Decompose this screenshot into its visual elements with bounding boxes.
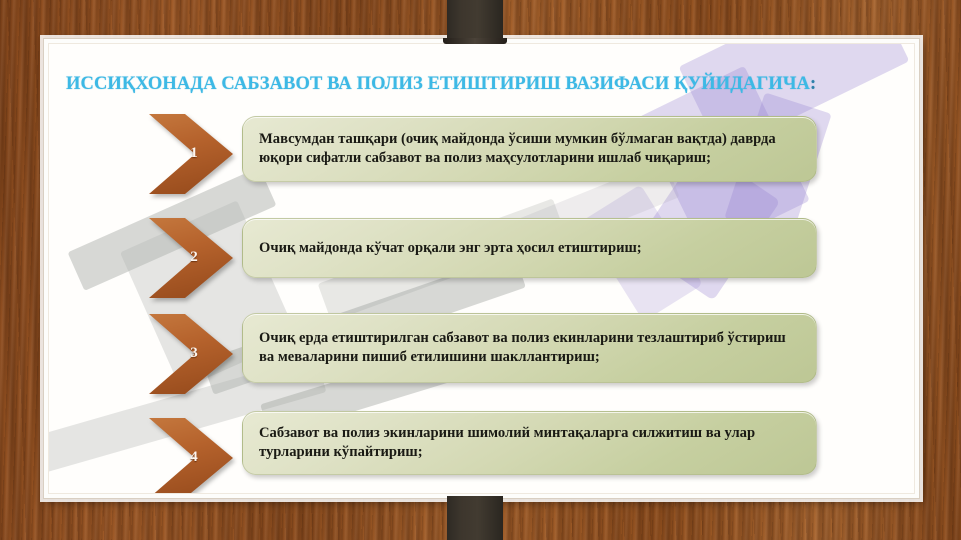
slide-frame-inner: ИССИҚХОНАДА САБЗАВОТ ВА ПОЛИЗ ЕТИШТИРИШ … [48,43,915,494]
content-box-2[interactable]: Очиқ майдонда кўчат орқали энг эрта ҳоси… [242,218,817,278]
decorative-post-bottom [447,496,503,540]
content-text-2: Очиқ майдонда кўчат орқали энг эрта ҳоси… [243,239,816,258]
decorative-post-top [447,0,503,44]
page-title-colon: : [810,74,816,94]
chevron-marker-4[interactable]: 4 [145,416,237,494]
content-box-4[interactable]: Сабзавот ва полиз экинларини шимолий мин… [242,411,817,475]
content-box-3[interactable]: Очиқ ерда етиштирилган сабзавот ва полиз… [242,313,817,383]
slide-frame: ИССИҚХОНАДА САБЗАВОТ ВА ПОЛИЗ ЕТИШТИРИШ … [43,38,920,499]
chevron-marker-2[interactable]: 2 [145,216,237,300]
content-text-1: Мавсумдан ташқари (очиқ майдонда ўсиши м… [243,130,816,168]
content-box-1[interactable]: Мавсумдан ташқари (очиқ майдонда ўсиши м… [242,116,817,182]
page-title: ИССИҚХОНАДА САБЗАВОТ ВА ПОЛИЗ ЕТИШТИРИШ … [66,74,906,95]
slide-canvas: ИССИҚХОНАДА САБЗАВОТ ВА ПОЛИЗ ЕТИШТИРИШ … [0,0,961,540]
chevron-marker-1[interactable]: 1 [145,112,237,196]
chevron-marker-3[interactable]: 3 [145,312,237,396]
content-text-3: Очиқ ерда етиштирилган сабзавот ва полиз… [243,329,816,367]
page-title-text: ИССИҚХОНАДА САБЗАВОТ ВА ПОЛИЗ ЕТИШТИРИШ … [66,74,810,94]
content-text-4: Сабзавот ва полиз экинларини шимолий мин… [243,424,816,462]
